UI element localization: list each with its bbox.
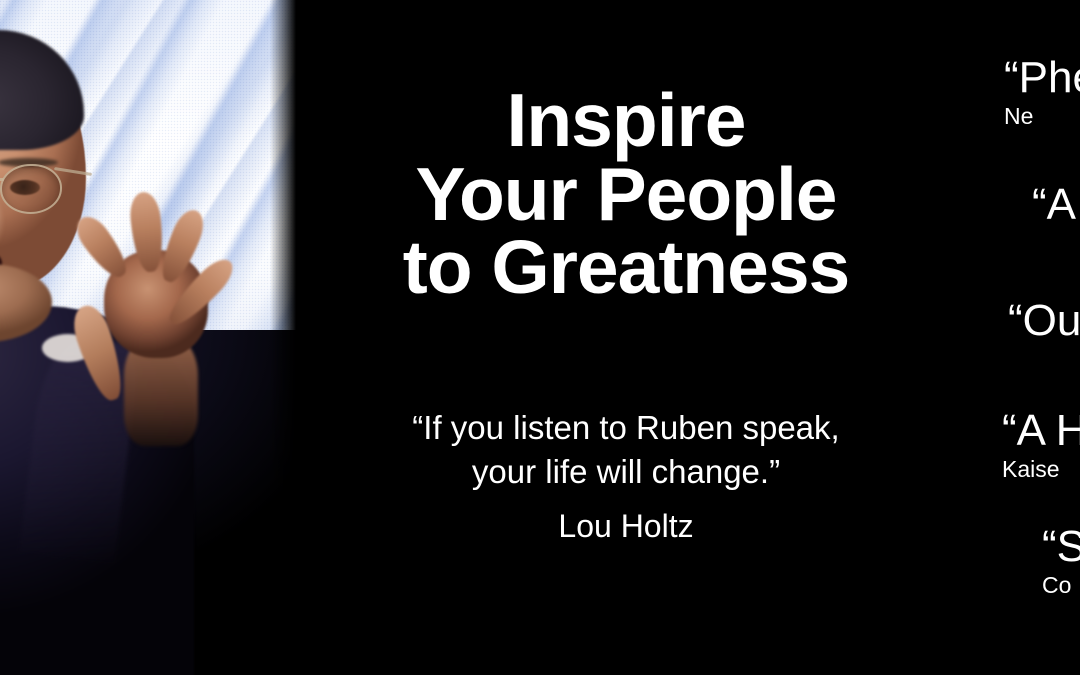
testimonial-quote: “Phe <box>1004 55 1080 101</box>
headline-line-3: to Greatness <box>296 231 956 305</box>
testimonial-item: “Phe Ne <box>1004 55 1080 131</box>
testimonial-quote: “A H <box>1002 408 1080 454</box>
photo-edge-fade <box>270 0 296 675</box>
speaker-photo <box>0 0 296 675</box>
testimonial-item: “Out <box>1008 298 1080 346</box>
testimonial-column: “Phe Ne “A “Out “A H Kaise “S Co <box>960 0 1080 675</box>
speaker-hair <box>0 30 84 150</box>
testimonial-item: “S Co <box>1042 524 1080 600</box>
pull-quote-line-2: your life will change.” <box>296 450 956 494</box>
testimonial-item: “A <box>1032 182 1080 230</box>
speaker-finger-index <box>70 210 134 283</box>
pull-quote-line-1: “If you listen to Ruben speak, <box>296 406 956 450</box>
pull-quote: “If you listen to Ruben speak, your life… <box>296 406 956 493</box>
headline-line-2: Your People <box>296 158 956 232</box>
testimonial-source: Ne <box>1004 103 1080 131</box>
testimonial-quote: “S <box>1042 524 1080 570</box>
testimonial-quote: “A <box>1032 182 1080 228</box>
headline: Inspire Your People to Greatness <box>296 84 956 305</box>
speaker-hand <box>84 196 246 426</box>
headline-line-1: Inspire <box>296 84 956 158</box>
glasses-lens-right <box>0 164 62 214</box>
testimonial-source: Co <box>1042 572 1080 600</box>
testimonial-source: Kaise <box>1002 456 1080 484</box>
testimonial-item: “A H Kaise <box>1002 408 1080 484</box>
pull-quote-attribution: Lou Holtz <box>296 508 956 545</box>
testimonial-quote: “Out <box>1008 298 1080 344</box>
speaker-figure <box>0 38 214 675</box>
glasses-bridge <box>0 178 4 181</box>
presentation-slide: Inspire Your People to Greatness “If you… <box>0 0 1080 675</box>
